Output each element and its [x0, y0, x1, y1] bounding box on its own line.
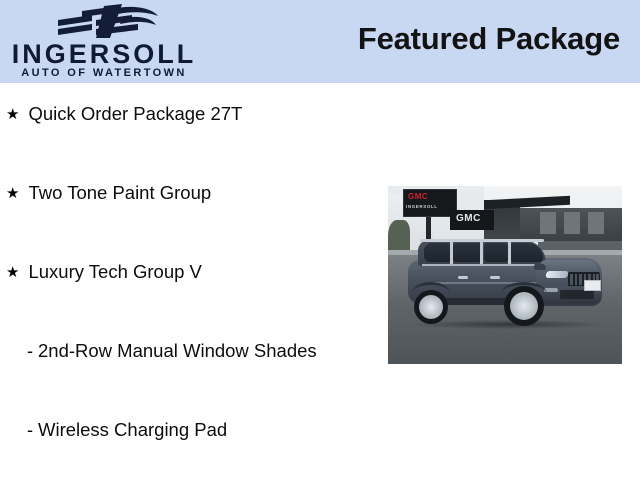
vehicle-wheel [414, 290, 448, 324]
page-title: Featured Package [358, 21, 620, 57]
list-item-label: Two Tone Paint Group [28, 184, 211, 203]
dealer-branding: INGERSOLL AUTO OF WATERTOWN [0, 0, 205, 83]
list-item: ★ Luxury Tech Group V [0, 260, 386, 284]
vehicle-door-handle [490, 276, 500, 279]
list-item: ★ Two Tone Paint Group [0, 181, 386, 205]
photo-building-sign-text: GMC [456, 214, 481, 224]
list-item: - Wireless Charging Pad [0, 418, 407, 442]
vehicle-photo: GMC INGERSOLL GMC [388, 186, 622, 364]
vehicle-beltline-trim [422, 264, 542, 266]
vehicle-door-handle [458, 276, 468, 279]
vehicle-rim [419, 295, 443, 319]
list-item: ★ Quick Order Package 27T [0, 102, 386, 126]
vehicle-lower-grille [560, 290, 594, 299]
photo-building-window [540, 212, 556, 234]
dash-bullet-icon: - [27, 342, 33, 360]
list-item: - 2nd-Row Manual Window Shades [0, 339, 407, 363]
vehicle-pillar [480, 242, 483, 264]
dealer-sub-wordmark: AUTO OF WATERTOWN [8, 68, 200, 79]
vehicle-roof-rail [420, 239, 544, 242]
photo-sign-primary-text: GMC [408, 193, 428, 201]
vehicle-rim [510, 292, 538, 320]
vehicle-license-plate [584, 280, 601, 291]
vehicle-wheel [504, 286, 544, 326]
vehicle-headlight [545, 271, 568, 278]
page-header: INGERSOLL AUTO OF WATERTOWN Featured Pac… [0, 0, 640, 83]
star-bullet-icon: ★ [6, 107, 19, 122]
list-item-label: 2nd-Row Manual Window Shades [38, 342, 317, 361]
list-item-label: Quick Order Package 27T [28, 105, 242, 124]
dealer-wordmark: INGERSOLL [8, 41, 200, 68]
vehicle-side-mirror [534, 264, 546, 270]
vehicle-window [424, 243, 450, 262]
photo-building-window [564, 212, 580, 234]
vehicle-pillar [508, 242, 511, 264]
vehicle-window [484, 243, 508, 262]
dash-bullet-icon: - [27, 421, 33, 439]
vehicle-pillar [450, 242, 453, 264]
photo-vehicle [408, 238, 604, 326]
star-bullet-icon: ★ [6, 265, 19, 280]
list-item-label: Luxury Tech Group V [28, 263, 201, 282]
photo-building-window [588, 212, 604, 234]
ingersoll-winged-emblem-icon [52, 4, 162, 42]
featured-package-list: ★ Quick Order Package 27T ★ Two Tone Pai… [0, 83, 380, 480]
photo-sign-secondary-text: INGERSOLL [406, 205, 438, 210]
star-bullet-icon: ★ [6, 186, 19, 201]
list-item-label: Wireless Charging Pad [38, 421, 227, 440]
vehicle-window [453, 243, 481, 262]
